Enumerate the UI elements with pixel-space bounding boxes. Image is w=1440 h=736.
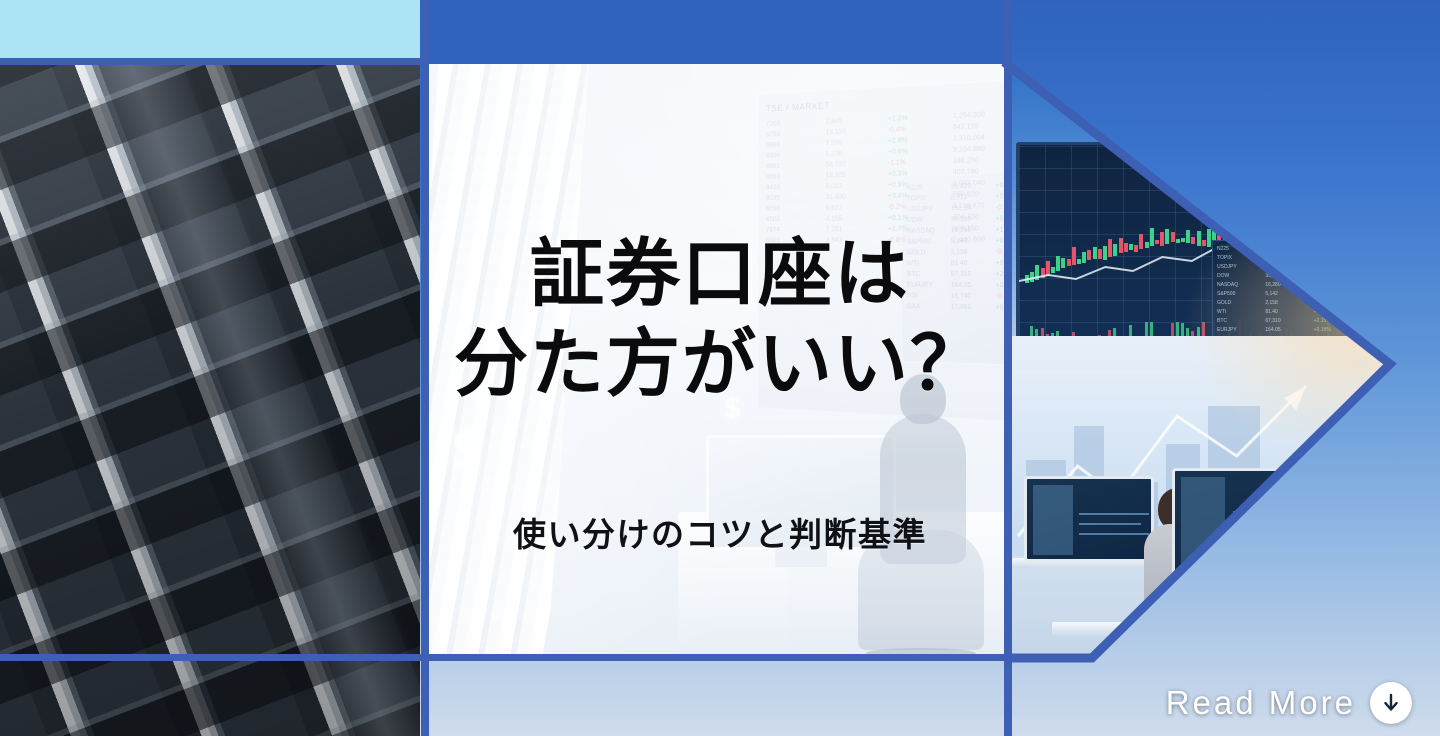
- dollar-glyph: $: [452, 424, 481, 476]
- read-more-button[interactable]: Read More: [1166, 682, 1412, 724]
- monitor-far: [1024, 476, 1154, 562]
- headline-line-1: 証券口座は: [430, 228, 1010, 320]
- quote-table-row: EURJPY164.05+0.18%: [1217, 326, 1357, 335]
- arrow-down-circle-icon: [1370, 682, 1412, 724]
- headline-line-2: 分た方がいい？: [430, 318, 1010, 410]
- cyan-accent-block: [0, 0, 420, 58]
- top-blue-band: [428, 0, 1004, 65]
- banner-canvas: TSE / MARKET 72032,845+1.2%1,204,3006758…: [0, 0, 1440, 736]
- page-subtitle: 使い分けのコツと判断基準: [430, 508, 1010, 556]
- office-building-photo: [0, 64, 420, 736]
- page-title: 証券口座は 分た方がいい？: [430, 228, 1010, 410]
- read-more-label: Read More: [1166, 684, 1356, 722]
